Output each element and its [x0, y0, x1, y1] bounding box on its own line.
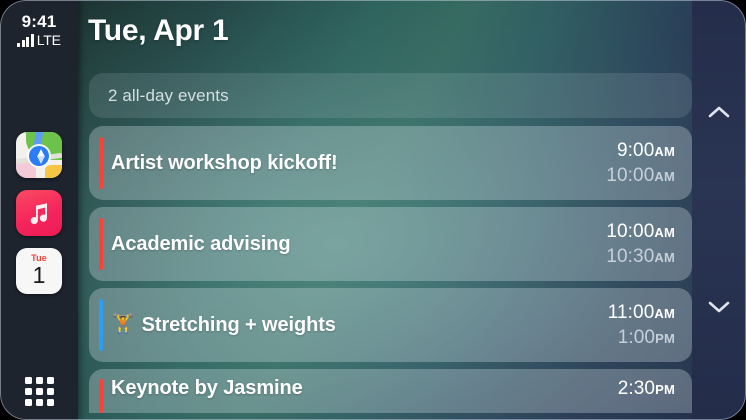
event-calendar-color-bar	[99, 299, 103, 351]
event-start-meridiem: AM	[654, 306, 675, 321]
all-day-events-label: 2 all-day events	[108, 86, 229, 106]
maps-landmark-shape	[45, 165, 62, 178]
cellular-signal-icon	[17, 34, 34, 47]
scroll-up-button[interactable]	[706, 99, 732, 125]
event-title: Academic advising	[111, 233, 290, 256]
event-end-time: 10:00AM	[606, 164, 675, 188]
calendar-day-view: Tue, Apr 1 2 all-day events Artist works…	[78, 0, 746, 420]
event-calendar-color-bar	[99, 137, 103, 189]
event-title-wrap: Academic advising	[111, 207, 290, 281]
event-emoji-icon: 🏋️	[111, 315, 135, 335]
event-end-time-value: 10:30	[606, 246, 654, 267]
all-day-events-banner[interactable]: 2 all-day events	[89, 73, 692, 118]
sidebar-item-music[interactable]	[16, 190, 62, 236]
event-times: 2:30PM	[618, 369, 675, 413]
sidebar-item-calendar[interactable]: Tue 1	[16, 248, 62, 294]
sidebar: 9:41 LTE	[0, 0, 78, 420]
event-card[interactable]: Keynote by Jasmine2:30PM	[89, 369, 692, 413]
event-start-time-value: 9:00	[617, 140, 654, 161]
event-start-time-value: 11:00	[608, 302, 655, 323]
event-times: 11:00AM1:00PM	[608, 288, 675, 362]
event-times: 10:00AM10:30AM	[606, 207, 675, 281]
event-start-time: 2:30PM	[618, 377, 675, 401]
event-end-meridiem: AM	[654, 169, 675, 184]
event-start-time-value: 2:30	[618, 378, 655, 399]
maps-compass-icon	[29, 146, 49, 166]
event-end-time: 10:30AM	[606, 245, 675, 269]
event-start-time: 9:00AM	[617, 139, 675, 163]
scroll-rail	[692, 0, 746, 420]
sidebar-item-maps[interactable]	[16, 132, 62, 178]
event-start-meridiem: AM	[654, 144, 675, 159]
event-start-time-value: 10:00	[606, 221, 654, 242]
status-bar: 9:41 LTE	[0, 12, 78, 47]
event-title: Keynote by Jasmine	[111, 377, 303, 400]
sidebar-app-list: Tue 1	[0, 132, 78, 294]
event-end-time-value: 10:00	[606, 165, 654, 186]
event-title: Stretching + weights	[142, 314, 336, 337]
grid-9-dots-icon	[25, 377, 54, 406]
event-end-meridiem: AM	[654, 250, 675, 265]
status-signal: LTE	[0, 34, 78, 47]
scroll-down-button[interactable]	[706, 294, 732, 320]
event-start-meridiem: AM	[654, 225, 675, 240]
event-start-time: 11:00AM	[608, 301, 675, 325]
event-title-wrap: Artist workshop kickoff!	[111, 126, 338, 200]
event-start-time: 10:00AM	[606, 220, 675, 244]
event-list: Artist workshop kickoff!9:00AM10:00AMAca…	[89, 126, 692, 420]
event-card[interactable]: 🏋️Stretching + weights11:00AM1:00PM	[89, 288, 692, 362]
event-title: Artist workshop kickoff!	[111, 152, 338, 175]
event-end-time: 1:00PM	[618, 326, 675, 350]
event-calendar-color-bar	[99, 218, 103, 270]
event-end-meridiem: PM	[655, 331, 675, 346]
event-title-wrap: 🏋️Stretching + weights	[111, 288, 336, 362]
event-times: 9:00AM10:00AM	[606, 126, 675, 200]
chevron-up-icon	[708, 105, 730, 119]
carplay-screen: 9:41 LTE	[0, 0, 746, 420]
event-card[interactable]: Artist workshop kickoff!9:00AM10:00AM	[89, 126, 692, 200]
page-title: Tue, Apr 1	[88, 14, 228, 48]
event-title-wrap: Keynote by Jasmine	[111, 369, 303, 413]
chevron-down-icon	[708, 300, 730, 314]
event-start-meridiem: PM	[655, 382, 675, 397]
calendar-day-number: 1	[33, 263, 46, 288]
app-launcher-button[interactable]	[0, 377, 78, 406]
carrier-label: LTE	[37, 34, 61, 47]
event-end-time-value: 1:00	[618, 327, 655, 348]
event-card[interactable]: Academic advising10:00AM10:30AM	[89, 207, 692, 281]
music-note-icon	[26, 200, 52, 226]
event-calendar-color-bar	[99, 379, 103, 413]
status-time: 9:41	[0, 12, 78, 31]
